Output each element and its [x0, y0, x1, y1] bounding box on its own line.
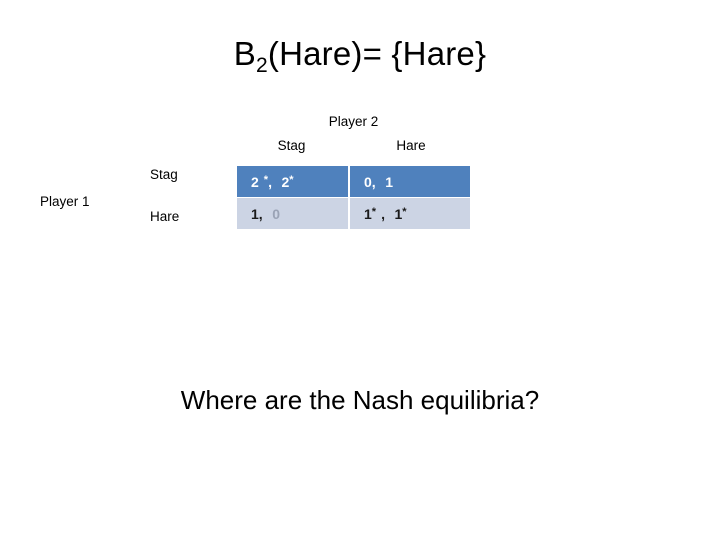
cell-p2-star: *	[402, 206, 406, 218]
cell-p2-star: *	[289, 174, 293, 186]
row-header-hare: Hare	[150, 209, 228, 224]
payoff-separator: ,	[372, 174, 376, 190]
player-2-label: Player 2	[235, 114, 472, 129]
cell-stag-stag[interactable]: 2*,2*	[237, 166, 348, 197]
player-1-label: Player 1	[40, 194, 90, 209]
column-header-stag: Stag	[235, 138, 348, 153]
payoff-separator: ,	[268, 174, 272, 190]
question-text: Where are the Nash equilibria?	[0, 385, 720, 416]
table-row: 2*,2* 0,1	[237, 166, 470, 197]
row-header-stag: Stag	[150, 167, 228, 182]
column-header-hare: Hare	[350, 138, 472, 153]
cell-stag-hare[interactable]: 0,1	[350, 166, 470, 197]
cell-hare-hare[interactable]: 1*,1*	[350, 198, 470, 229]
cell-hare-stag[interactable]: 1,0	[237, 198, 348, 229]
cell-p1-payoff: 1	[251, 206, 259, 222]
payoff-separator: ,	[259, 206, 263, 222]
cell-p1-payoff: 1	[364, 206, 372, 222]
payoff-separator: ,	[381, 206, 385, 222]
cell-p1-payoff: 0	[364, 174, 372, 190]
cell-p1-payoff: 2	[251, 174, 259, 190]
payoff-table: 2*,2* 0,1 1,0 1*,1*	[235, 165, 472, 230]
cell-p1-star: *	[372, 206, 376, 218]
cell-p2-payoff: 1	[385, 174, 393, 190]
payoff-matrix: Player 2 Stag Hare Player 1 Stag Hare 2*…	[0, 0, 720, 540]
table-row: 1,0 1*,1*	[237, 198, 470, 229]
cell-p2-payoff: 0	[272, 206, 280, 222]
cell-p1-star: *	[264, 174, 268, 186]
